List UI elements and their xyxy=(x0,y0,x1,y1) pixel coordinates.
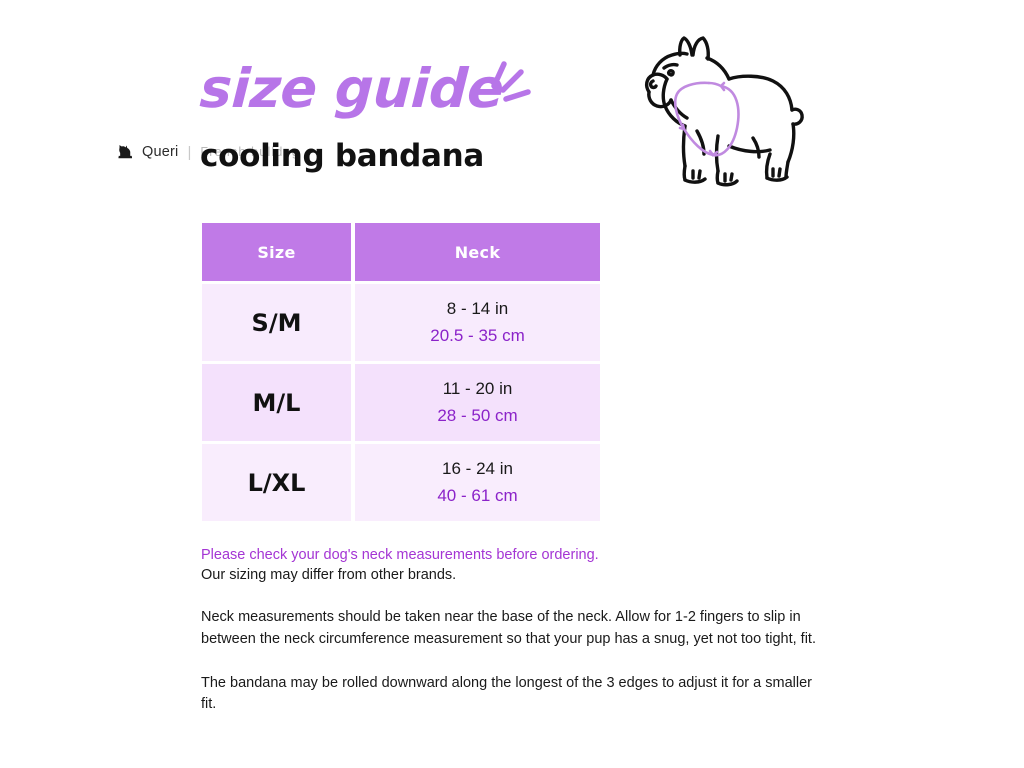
table-row: L/XL 16 - 24 in 40 - 61 cm xyxy=(202,444,600,521)
table-row: M/L 11 - 20 in 28 - 50 cm xyxy=(202,364,600,441)
size-table: Size Neck S/M 8 - 14 in 20.5 - 35 cm M/L xyxy=(202,223,600,521)
notes-section: Please check your dog's neck measurement… xyxy=(201,546,826,716)
note-accent-line: Please check your dog's neck measurement… xyxy=(201,546,826,566)
column-header-size: Size xyxy=(202,223,351,281)
neck-centimeters: 28 - 50 cm xyxy=(355,403,600,429)
column-header-neck: Neck xyxy=(355,223,600,281)
cell-size: L/XL xyxy=(202,444,351,521)
cell-neck: 8 - 14 in 20.5 - 35 cm xyxy=(355,284,600,361)
note-paragraph-1: Neck measurements should be taken near t… xyxy=(201,607,823,650)
cell-neck: 16 - 24 in 40 - 61 cm xyxy=(355,444,600,521)
cell-size: S/M xyxy=(202,284,351,361)
neck-centimeters: 40 - 61 cm xyxy=(355,483,600,509)
cell-neck: 11 - 20 in 28 - 50 cm xyxy=(355,364,600,441)
table-header-row: Size Neck xyxy=(202,223,600,281)
brand-separator: | xyxy=(187,145,191,160)
neck-centimeters: 20.5 - 35 cm xyxy=(355,323,600,349)
size-table-head: Size Neck xyxy=(202,223,600,281)
neck-inches: 8 - 14 in xyxy=(355,296,600,322)
note-paragraph-2: The bandana may be rolled downward along… xyxy=(201,673,823,716)
page-title: size guide xyxy=(199,62,505,116)
brand-name: Queri xyxy=(142,144,178,160)
table-row: S/M 8 - 14 in 20.5 - 35 cm xyxy=(202,284,600,361)
page-title-wrap: size guide xyxy=(200,62,503,116)
french-bulldog-line-drawing xyxy=(625,26,825,196)
french-bulldog-silhouette-icon xyxy=(116,142,136,162)
size-guide-page: Queri | French bulldog size guide coolin… xyxy=(0,0,1024,768)
neck-inches: 11 - 20 in xyxy=(355,376,600,402)
cell-size: M/L xyxy=(202,364,351,441)
page-subtitle: cooling bandana xyxy=(200,140,484,173)
size-table-body: S/M 8 - 14 in 20.5 - 35 cm M/L 11 - 20 i… xyxy=(202,281,600,521)
neck-inches: 16 - 24 in xyxy=(355,456,600,482)
note-plain-line: Our sizing may differ from other brands. xyxy=(201,566,826,586)
